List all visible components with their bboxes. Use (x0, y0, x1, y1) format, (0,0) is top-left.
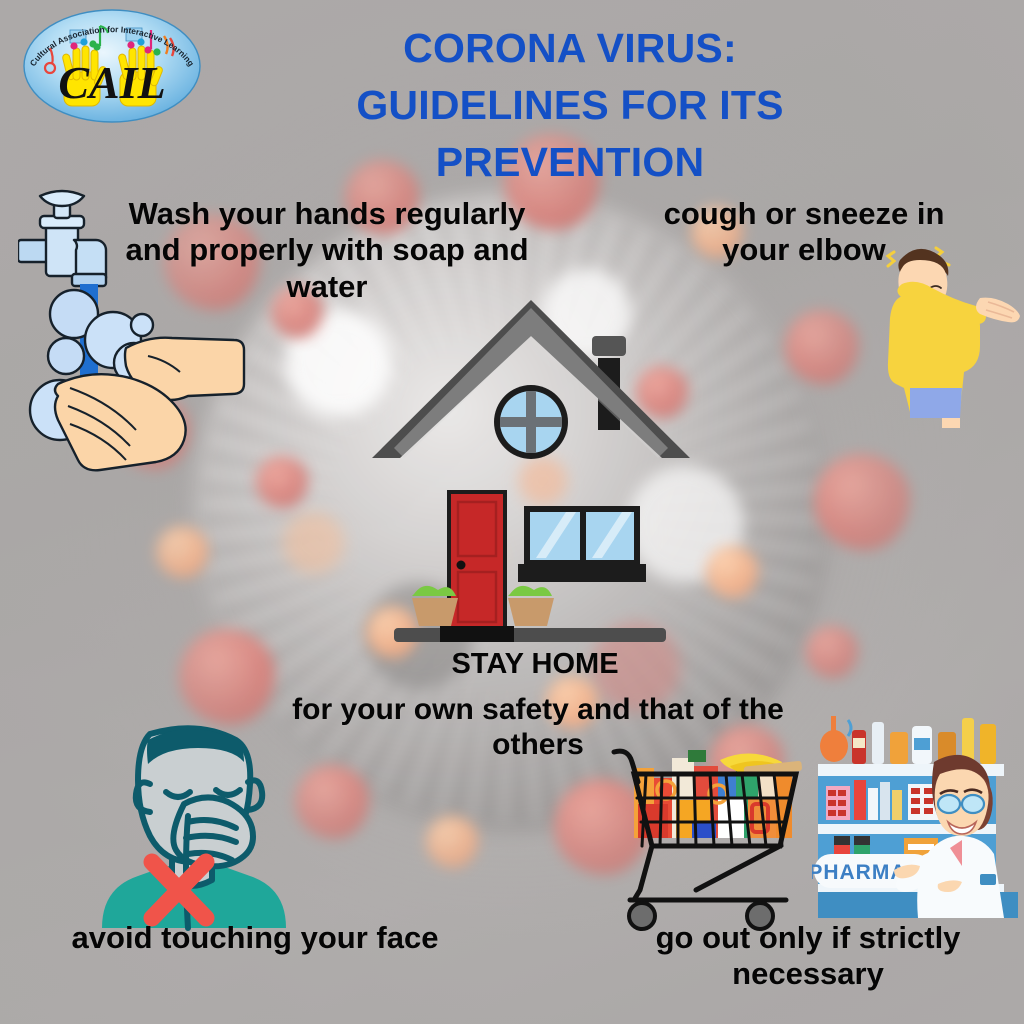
house-base (394, 628, 666, 642)
medicine-shelf-middle (826, 780, 942, 820)
poster-canvas: CAIL Cultural Association for Interactiv… (0, 0, 1024, 1024)
caption-avoid-touching-face: avoid touching your face (10, 920, 500, 956)
caption-wash-hands: Wash your hands regularly and properly w… (92, 196, 562, 305)
potted-plant-left (412, 586, 458, 626)
house-stay-home-icon (368, 300, 694, 648)
pharmacy-icon: PHARMACY (812, 708, 1024, 920)
potted-plant-right (508, 586, 554, 626)
logo-acronym: CAIL (58, 57, 165, 108)
caption-cough-elbow: cough or sneeze in your elbow (604, 196, 1004, 269)
caption-stay-home-subtitle: for your own safety and that of the othe… (238, 692, 838, 762)
shopping-cart-icon (600, 742, 826, 932)
caption-go-out-only-if-necessary: go out only if strictly necessary (592, 920, 1024, 993)
page-title: CORONA VIRUS: GUIDELINES FOR ITS PREVENT… (300, 20, 840, 191)
medicine-bottles-top (820, 716, 996, 764)
caption-stay-home-title: STAY HOME (300, 648, 770, 682)
cail-logo: CAIL Cultural Association for Interactiv… (14, 6, 210, 124)
